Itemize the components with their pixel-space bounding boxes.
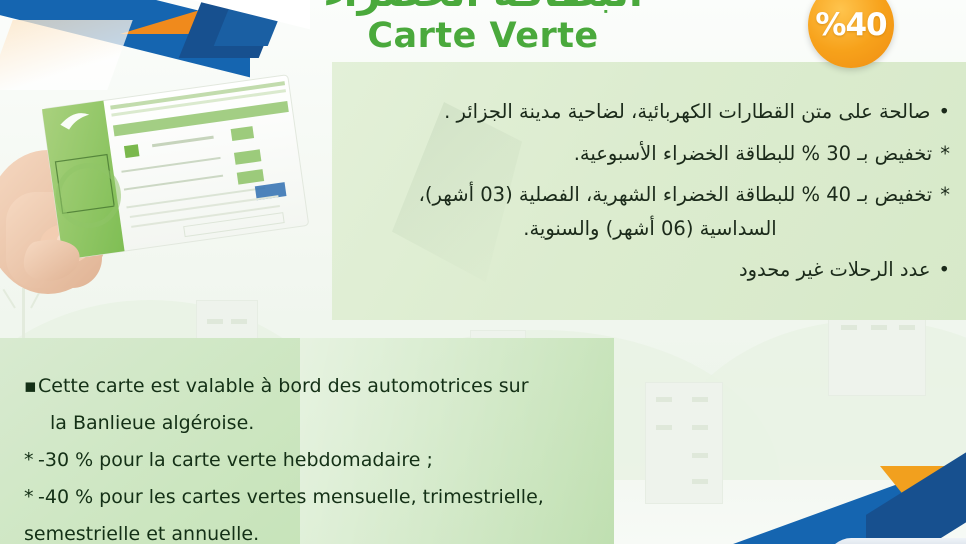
arabic-benefits-list: •صالحة على متن القطارات الكهربائية، لضاح…	[350, 96, 950, 296]
brand-ribbon-bottom-right	[586, 378, 966, 544]
french-benefits-list: ▪Cette carte est valable à bord des auto…	[24, 368, 594, 544]
french-list-text-continuation: la Banlieue algéroise.	[24, 405, 594, 442]
french-list-text: Cette carte est valable à bord des autom…	[38, 375, 529, 397]
discount-badge-label: %40	[815, 7, 886, 43]
arabic-list-text: عدد الرحلات غير محدود	[739, 258, 931, 281]
list-marker: *	[24, 479, 38, 516]
french-list-item: *-40 % pour les cartes vertes mensuelle,…	[24, 479, 594, 544]
arabic-list-text-continuation: السداسية (06 أشهر) والسنوية.	[350, 213, 950, 245]
arabic-list-item: •صالحة على متن القطارات الكهربائية، لضاح…	[350, 96, 950, 128]
list-marker: •	[938, 96, 950, 128]
list-marker: •	[938, 254, 950, 286]
french-list-item: ▪Cette carte est valable à bord des auto…	[24, 368, 594, 442]
french-list-item: *-30 % pour la carte verte hebdomadaire …	[24, 442, 594, 479]
train-illustration	[726, 520, 966, 544]
arabic-list-item: *تخفيض بـ 40 % للبطاقة الخضراء الشهرية، …	[350, 179, 950, 244]
arabic-list-text: تخفيض بـ 30 % للبطاقة الخضراء الأسبوعية.	[574, 142, 933, 165]
arabic-list-text: تخفيض بـ 40 % للبطاقة الخضراء الشهرية، ا…	[419, 183, 933, 206]
french-list-text: -40 % pour les cartes vertes mensuelle, …	[38, 486, 544, 508]
list-marker: *	[24, 442, 38, 479]
french-list-text: -30 % pour la carte verte hebdomadaire ;	[38, 449, 433, 471]
list-marker: ▪	[24, 368, 38, 405]
arabic-list-item: •عدد الرحلات غير محدود	[350, 254, 950, 286]
poster-root: SNTF البطاقة الخضراء Carte Verte %40 •صا…	[0, 0, 966, 544]
french-list-text-continuation: semestrielle et annuelle.	[24, 516, 594, 544]
list-marker: *	[940, 179, 950, 211]
discount-badge: %40	[808, 0, 894, 68]
arabic-list-text: صالحة على متن القطارات الكهربائية، لضاحي…	[444, 100, 930, 123]
arabic-list-item: *تخفيض بـ 30 % للبطاقة الخضراء الأسبوعية…	[350, 138, 950, 170]
list-marker: *	[940, 138, 950, 170]
train-body	[823, 538, 966, 544]
